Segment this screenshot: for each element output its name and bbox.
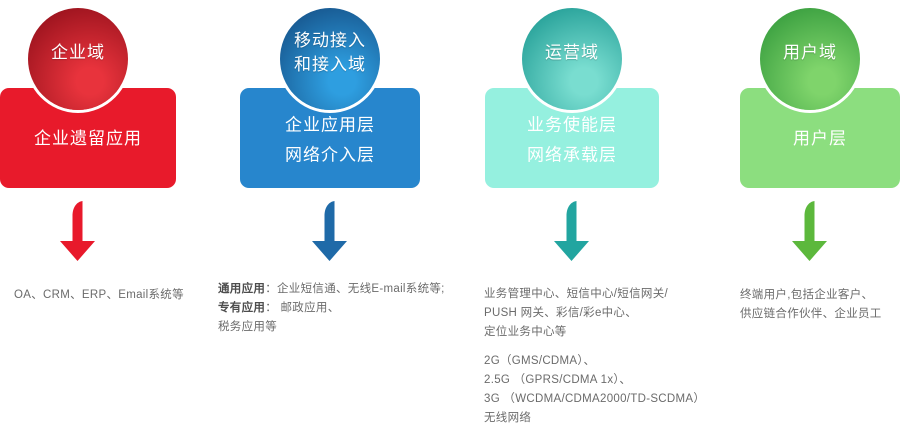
circle-label-line: 运营域 [522,41,622,65]
circle-label-line: 和接入域 [280,53,380,77]
caption-line-rest: ：企业短信通、无线E-mail系统等; [265,283,444,295]
caption-line: 税务应用等 [218,318,445,337]
box-label-line: 企业应用层 [240,110,420,140]
arrow-wrap-operation-domain [540,200,604,267]
caption-line: PUSH 网关、彩信/彩e中心、 [484,304,705,323]
box-label-line: 网络介入层 [240,140,420,170]
arrow-wrap-enterprise-domain [46,200,110,267]
caption-line: 通用应用：企业短信通、无线E-mail系统等; [218,280,445,299]
caption-gap [484,342,705,352]
caption-operation-domain: 业务管理中心、短信中心/短信网关/PUSH 网关、彩信/彩e中心、定位业务中心等… [484,285,705,428]
circle-operation-domain[interactable]: 运营域 [522,8,622,110]
caption-mobile-access-domain: 通用应用：企业短信通、无线E-mail系统等;专有应用： 邮政应用、税务应用等 [218,280,445,337]
caption-line: 定位业务中心等 [484,323,705,342]
caption-line: 2.5G （GPRS/CDMA 1x）、 [484,371,705,390]
down-arrow-teal [540,200,604,262]
circle-enterprise-domain[interactable]: 企业域 [28,8,128,110]
caption-line-emphasis: 通用应用 [218,283,265,295]
box-label-line: 网络承载层 [485,140,659,170]
box-label-enterprise-domain: 企业遗留应用 [0,124,176,154]
arrow-wrap-user-domain [778,200,842,267]
circle-label-user-domain: 用户域 [760,41,860,65]
box-label-mobile-access-domain: 企业应用层网络介入层 [240,110,420,170]
circle-mobile-access-domain[interactable]: 移动接入和接入域 [280,8,380,110]
box-label-operation-domain: 业务使能层网络承载层 [485,110,659,170]
caption-line-emphasis: 专有应用 [218,302,265,314]
down-arrow-green [778,200,842,262]
circle-label-line: 用户域 [760,41,860,65]
caption-line: 供应链合作伙伴、企业员工 [740,305,882,324]
circle-label-enterprise-domain: 企业域 [28,41,128,65]
caption-line: 终端用户,包括企业客户、 [740,286,882,305]
diagram-canvas: 企业遗留应用企业域OA、CRM、ERP、Email系统等企业应用层网络介入层移动… [0,0,900,404]
circle-label-line: 企业域 [28,41,128,65]
circle-user-domain[interactable]: 用户域 [760,8,860,110]
down-arrow-red [46,200,110,262]
circle-label-operation-domain: 运营域 [522,41,622,65]
caption-enterprise-domain: OA、CRM、ERP、Email系统等 [14,286,184,305]
box-label-line: 业务使能层 [485,110,659,140]
arrow-wrap-mobile-access-domain [298,200,362,267]
box-label-line: 企业遗留应用 [0,124,176,154]
caption-user-domain: 终端用户,包括企业客户、供应链合作伙伴、企业员工 [740,286,882,324]
down-arrow-blue [298,200,362,262]
caption-line: 业务管理中心、短信中心/短信网关/ [484,285,705,304]
circle-label-line: 移动接入 [280,29,380,53]
caption-line: 2G（GMS/CDMA）、 [484,352,705,371]
caption-line: 无线网络 [484,409,705,428]
caption-line: OA、CRM、ERP、Email系统等 [14,286,184,305]
caption-line-rest: ： 邮政应用、 [265,302,339,314]
caption-line: 3G （WCDMA/CDMA2000/TD-SCDMA） [484,390,705,409]
box-label-user-domain: 用户层 [740,124,900,154]
caption-line: 专有应用： 邮政应用、 [218,299,445,318]
circle-label-mobile-access-domain: 移动接入和接入域 [280,29,380,77]
box-label-line: 用户层 [740,124,900,154]
